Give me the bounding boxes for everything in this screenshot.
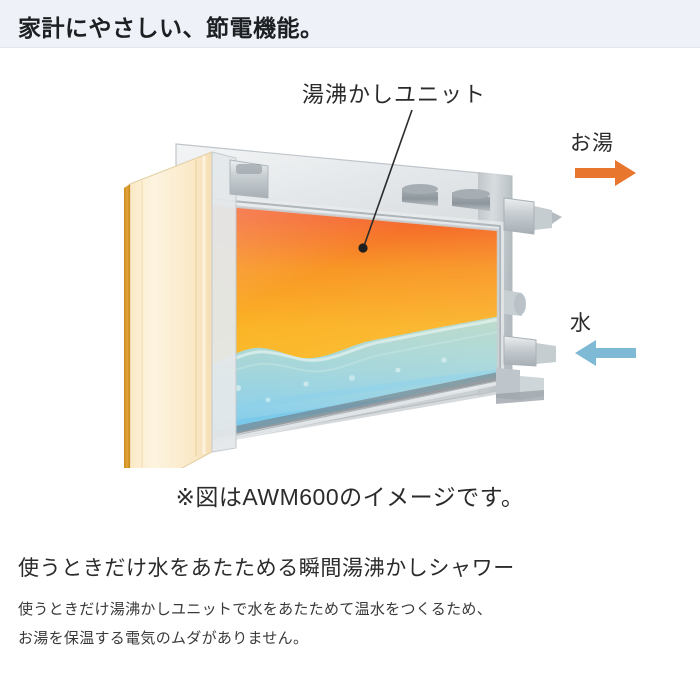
header-band: 家計にやさしい、節電機能。	[0, 0, 700, 48]
figure-caption: ※図はAWM600のイメージです。	[0, 478, 700, 512]
arrow-left-icon	[575, 340, 636, 366]
body-heading: 使うときだけ水をあたためる瞬間湯沸かしシャワー	[18, 552, 682, 582]
callout-label-heating-unit: 湯沸かしユニット	[302, 77, 486, 109]
heater-unit-diagram	[0, 48, 700, 468]
hot-water-outlet-nozzle	[504, 198, 562, 234]
page-title: 家計にやさしい、節電機能。	[18, 9, 324, 43]
body-line-2: お湯を保温する電気のムダがありません。	[18, 627, 682, 648]
callout-label-cold-water: 水	[570, 307, 592, 337]
mounting-foot	[496, 368, 544, 404]
front-panel	[124, 152, 236, 468]
product-illustration: 湯沸かしユニット お湯 水	[0, 48, 700, 468]
product-feature-page: 家計にやさしい、節電機能。	[0, 0, 700, 700]
top-left-connector	[230, 160, 268, 198]
callout-label-hot-water: お湯	[570, 127, 614, 157]
body-copy: 使うときだけ水をあたためる瞬間湯沸かしシャワー 使うときだけ湯沸かしユニットで水…	[18, 552, 682, 656]
body-line-1: 使うときだけ湯沸かしユニットで水をあたためて温水をつくるため、	[18, 598, 682, 619]
side-boss	[504, 290, 526, 316]
arrow-right-icon	[575, 160, 636, 186]
cold-water-inlet-nozzle	[504, 336, 556, 366]
